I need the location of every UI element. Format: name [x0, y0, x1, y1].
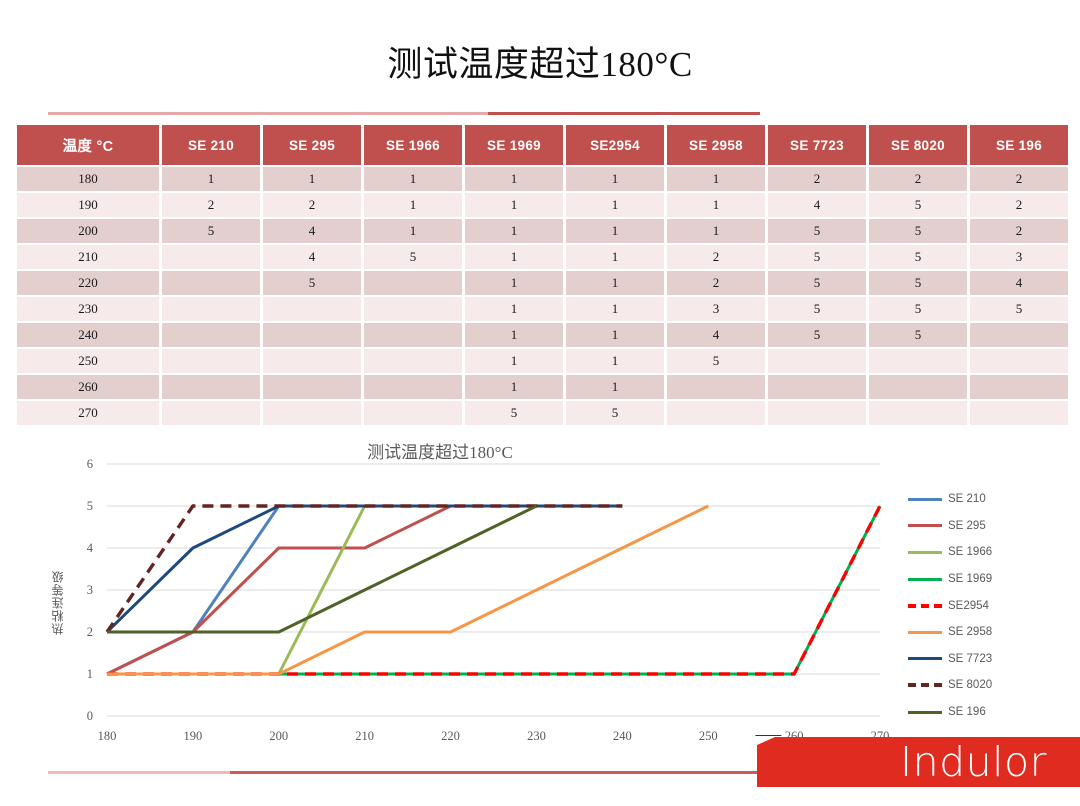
table-cell-value: 5 [768, 245, 866, 269]
legend-item[interactable]: SE 2958 [908, 619, 1080, 646]
table-cell-value: 2 [970, 193, 1068, 217]
table-cell-value: 1 [566, 219, 664, 243]
table-cell-value [970, 323, 1068, 347]
table-cell-value: 2 [970, 167, 1068, 191]
table-cell-value: 5 [768, 323, 866, 347]
chart-x-tick-label: 230 [527, 729, 546, 743]
chart-series-line [107, 506, 622, 632]
table-row: 180111111222 [17, 167, 1068, 191]
table-cell-value: 5 [768, 271, 866, 295]
table-cell-value: 2 [162, 193, 260, 217]
table-cell-value [364, 323, 462, 347]
table-cell-temperature: 190 [17, 193, 159, 217]
table-row: 250115 [17, 349, 1068, 373]
table-cell-value: 3 [667, 297, 765, 321]
table-row: 27055 [17, 401, 1068, 425]
table-cell-value: 1 [566, 193, 664, 217]
table-column-header: SE 210 [162, 125, 260, 165]
table-cell-value [162, 245, 260, 269]
legend-item-label: SE 1969 [948, 573, 992, 585]
table-cell-value [768, 401, 866, 425]
legend-item-label: SE 196 [948, 706, 986, 718]
table-cell-temperature: 260 [17, 375, 159, 399]
table-cell-value: 5 [162, 219, 260, 243]
legend-item[interactable]: SE2954 [908, 592, 1080, 619]
table-cell-value: 1 [465, 193, 563, 217]
table-cell-value [263, 349, 361, 373]
table-cell-value [667, 375, 765, 399]
table-cell-value: 1 [566, 323, 664, 347]
table-cell-value: 5 [364, 245, 462, 269]
table-cell-value [162, 297, 260, 321]
legend-item[interactable]: SE 196 [908, 699, 1080, 726]
chart-y-tick-label: 6 [87, 457, 93, 471]
table-column-header: SE 2958 [667, 125, 765, 165]
table-cell-value [162, 323, 260, 347]
legend-swatch-icon [908, 683, 942, 687]
table-cell-value: 5 [667, 349, 765, 373]
table-column-header: SE 1969 [465, 125, 563, 165]
legend-item-label: SE 295 [948, 520, 986, 532]
table-column-header: SE2954 [566, 125, 664, 165]
chart-x-tick-label: 190 [184, 729, 203, 743]
table-cell-value: 3 [970, 245, 1068, 269]
table-cell-value [263, 297, 361, 321]
table-cell-value: 2 [869, 167, 967, 191]
legend-item-label: SE 8020 [948, 679, 992, 691]
table-cell-value [970, 401, 1068, 425]
legend-item[interactable]: SE 210 [908, 486, 1080, 513]
legend-swatch-icon [908, 631, 942, 634]
legend-swatch-icon [908, 657, 942, 660]
table-cell-value: 4 [667, 323, 765, 347]
table-cell-value: 4 [970, 271, 1068, 295]
chart-y-axis-label: 热粘连等级 [52, 570, 72, 635]
table-cell-value [263, 401, 361, 425]
page-title: 测试温度超过180°C [0, 36, 1080, 87]
table-cell-value: 1 [465, 219, 563, 243]
table-cell-value: 5 [768, 219, 866, 243]
chart-y-tick-label: 0 [87, 709, 93, 723]
table-cell-value [970, 349, 1068, 373]
legend-swatch-icon [908, 578, 942, 581]
legend-swatch-icon [908, 551, 942, 554]
table-cell-value: 1 [364, 193, 462, 217]
table-cell-value: 5 [869, 193, 967, 217]
legend-item[interactable]: SE 7723 [908, 646, 1080, 673]
legend-item-label: SE 1966 [948, 546, 992, 558]
table-cell-value [162, 271, 260, 295]
table-cell-value: 1 [667, 167, 765, 191]
table-column-header: SE 196 [970, 125, 1068, 165]
table-cell-value [162, 375, 260, 399]
chart-x-tick-label: 210 [355, 729, 374, 743]
table-cell-value [263, 323, 361, 347]
table-row: 21045112553 [17, 245, 1068, 269]
chart-x-tick-label: 250 [699, 729, 718, 743]
legend-item[interactable]: SE 295 [908, 513, 1080, 540]
table-cell-value: 1 [566, 167, 664, 191]
legend-swatch-icon [908, 498, 942, 501]
legend-item-label: SE 7723 [948, 653, 992, 665]
table-cell-value: 1 [162, 167, 260, 191]
table-cell-value [364, 349, 462, 373]
chart-x-tick-label: 180 [98, 729, 117, 743]
table-cell-value: 1 [566, 271, 664, 295]
table-cell-value: 5 [869, 245, 967, 269]
table-row: 24011455 [17, 323, 1068, 347]
table-cell-value: 5 [869, 297, 967, 321]
table-cell-value: 1 [465, 375, 563, 399]
table-cell-value: 1 [566, 375, 664, 399]
table-cell-temperature: 230 [17, 297, 159, 321]
table-cell-value: 1 [263, 167, 361, 191]
chart-legend: SE 210SE 295SE 1966SE 1969SE2954SE 2958S… [908, 486, 1080, 725]
table-row: 190221111452 [17, 193, 1068, 217]
table-cell-temperature: 270 [17, 401, 159, 425]
table-cell-value: 4 [263, 245, 361, 269]
table-cell-value: 2 [970, 219, 1068, 243]
top-divider-dark-segment [488, 112, 760, 115]
table-cell-value: 1 [566, 349, 664, 373]
table-cell-value: 5 [768, 297, 866, 321]
table-cell-value [162, 401, 260, 425]
table-cell-temperature: 180 [17, 167, 159, 191]
table-cell-value: 1 [465, 167, 563, 191]
table-cell-value: 1 [566, 297, 664, 321]
table-cell-value [364, 297, 462, 321]
top-divider-light-segment [48, 112, 488, 115]
table-cell-value [162, 349, 260, 373]
table-cell-value [768, 349, 866, 373]
legend-swatch-icon [908, 604, 942, 608]
table-cell-value: 1 [566, 245, 664, 269]
table-cell-value [364, 375, 462, 399]
table-cell-value: 1 [667, 193, 765, 217]
table-cell-value: 2 [667, 245, 765, 269]
table-cell-value: 1 [465, 271, 563, 295]
table-cell-value: 1 [465, 297, 563, 321]
table-header-row: 温度 °CSE 210SE 295SE 1966SE 1969SE2954SE … [17, 125, 1068, 165]
table-cell-temperature: 210 [17, 245, 159, 269]
legend-swatch-icon [908, 711, 942, 714]
table-cell-value: 2 [768, 167, 866, 191]
table-cell-value: 5 [263, 271, 361, 295]
table-column-header: 温度 °C [17, 125, 159, 165]
table-cell-value: 2 [263, 193, 361, 217]
table-column-header: SE 295 [263, 125, 361, 165]
table-cell-value [869, 375, 967, 399]
table-cell-value: 2 [667, 271, 765, 295]
table-row: 230113555 [17, 297, 1068, 321]
top-divider [48, 112, 760, 115]
table-column-header: SE 1966 [364, 125, 462, 165]
chart-x-tick-label: 200 [269, 729, 288, 743]
table-cell-value: 1 [364, 167, 462, 191]
table-cell-value: 1 [667, 219, 765, 243]
table-cell-value [364, 271, 462, 295]
chart-y-tick-label: 1 [87, 667, 93, 681]
table-cell-value: 5 [465, 401, 563, 425]
legend-item-label: SE 2958 [948, 626, 992, 638]
legend-item[interactable]: SE 1969 [908, 566, 1080, 593]
table-row: 26011 [17, 375, 1068, 399]
table-cell-temperature: 200 [17, 219, 159, 243]
table-cell-temperature: 250 [17, 349, 159, 373]
table-cell-value: 5 [869, 323, 967, 347]
table-cell-value [263, 375, 361, 399]
table-cell-value [970, 375, 1068, 399]
table-cell-value [869, 401, 967, 425]
table-row: 200541111552 [17, 219, 1068, 243]
legend-item-label: SE 210 [948, 493, 986, 505]
table-cell-value [768, 375, 866, 399]
table-cell-value [869, 349, 967, 373]
table-cell-value: 5 [869, 271, 967, 295]
table-cell-value: 4 [263, 219, 361, 243]
chart-y-tick-label: 3 [87, 583, 93, 597]
table-cell-value: 5 [566, 401, 664, 425]
table-header: 温度 °CSE 210SE 295SE 1966SE 1969SE2954SE … [17, 125, 1068, 165]
legend-item[interactable]: SE 1966 [908, 539, 1080, 566]
table-cell-value: 5 [869, 219, 967, 243]
chart-x-tick-label: 220 [441, 729, 460, 743]
table-cell-temperature: 220 [17, 271, 159, 295]
table-cell-value: 1 [465, 245, 563, 269]
table-cell-value: 1 [465, 323, 563, 347]
chart-series-line [107, 506, 622, 632]
chart-y-tick-label: 2 [87, 625, 93, 639]
logo-text: Indulor [900, 737, 1080, 787]
legend-item[interactable]: SE 8020 [908, 672, 1080, 699]
table-cell-value [364, 401, 462, 425]
legend-item-label: SE2954 [948, 600, 989, 612]
table-row: 2205112554 [17, 271, 1068, 295]
legend-swatch-icon [908, 524, 942, 527]
table-cell-value [667, 401, 765, 425]
chart-y-tick-label: 4 [87, 541, 94, 555]
chart-x-tick-label: 240 [613, 729, 632, 743]
chart-y-tick-label: 5 [87, 499, 93, 513]
table-cell-value: 4 [768, 193, 866, 217]
table-cell-value: 1 [364, 219, 462, 243]
table-column-header: SE 7723 [768, 125, 866, 165]
table-body: 1801111112221902211114522005411115522104… [17, 167, 1068, 425]
table-cell-temperature: 240 [17, 323, 159, 347]
temperature-data-table: 温度 °CSE 210SE 295SE 1966SE 1969SE2954SE … [14, 123, 1071, 427]
table-cell-value: 5 [970, 297, 1068, 321]
bottom-divider-light-segment [48, 771, 230, 774]
table-cell-value: 1 [465, 349, 563, 373]
table-column-header: SE 8020 [869, 125, 967, 165]
